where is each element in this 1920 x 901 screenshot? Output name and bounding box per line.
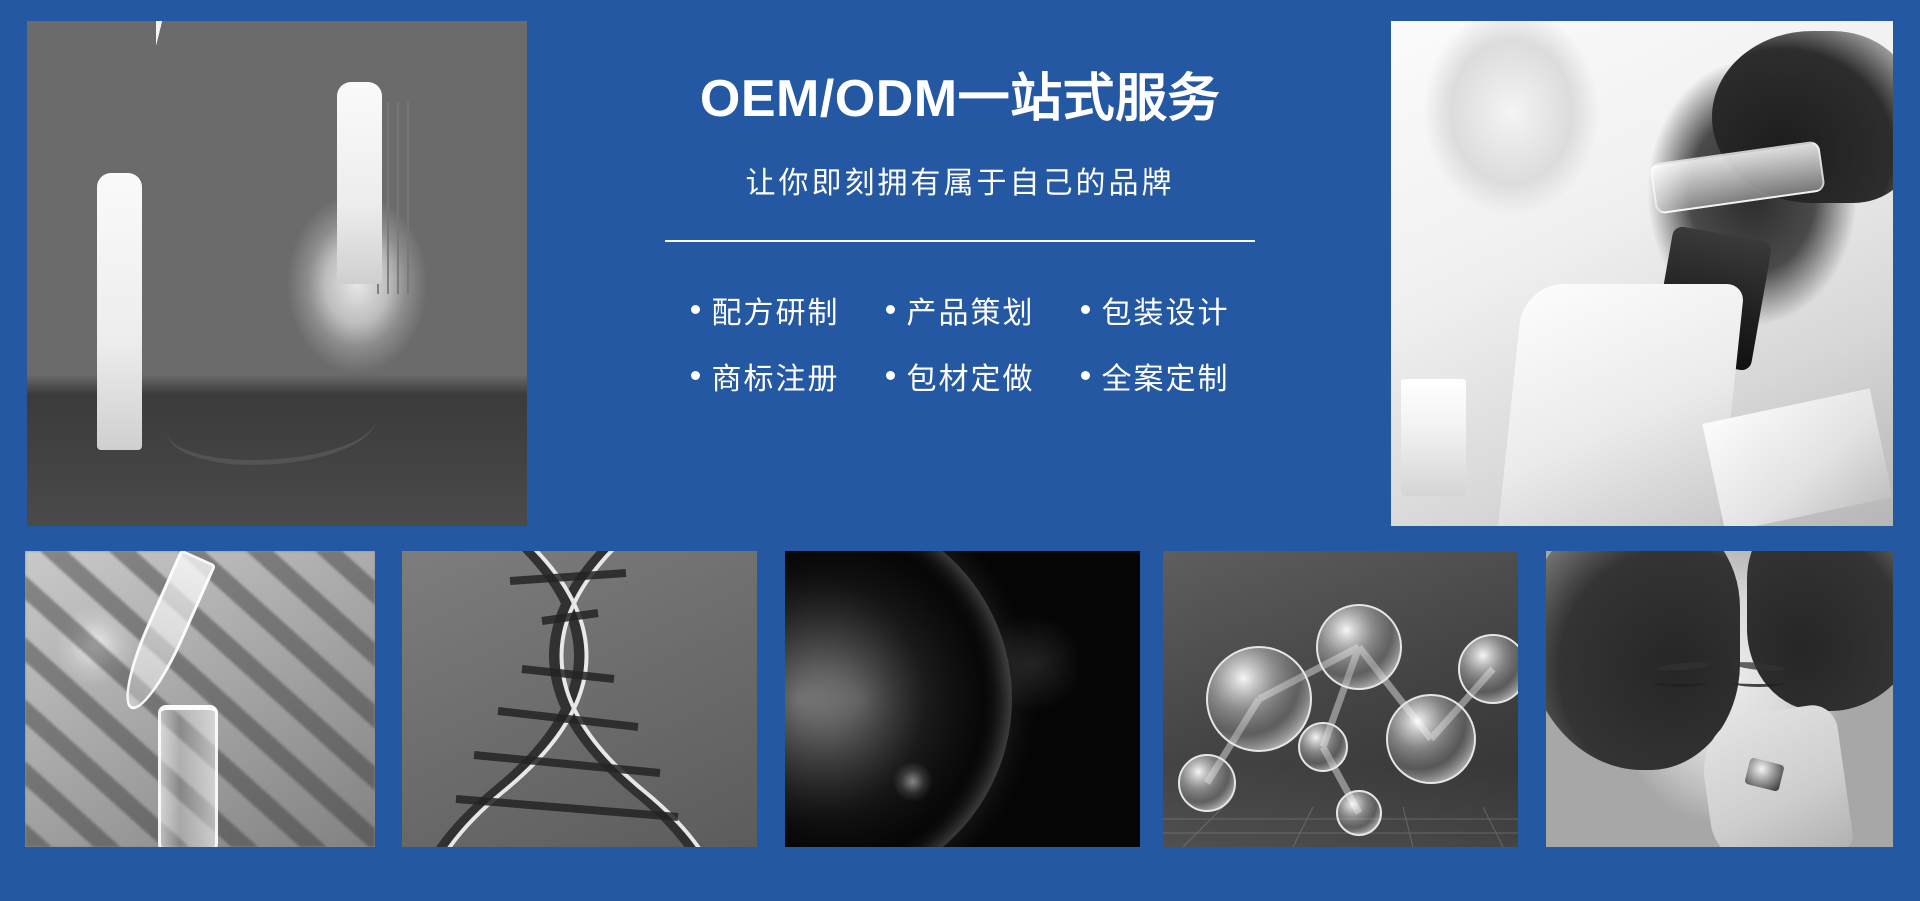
oem-odm-service-banner: OEM/ODM一站式服务 让你即刻拥有属于自己的品牌 配方研制 产品策划 包装设… [0, 0, 1920, 901]
safety-goggles-detail [1649, 141, 1825, 215]
service-item-label: 配方研制 [712, 288, 840, 332]
model-face-photo [1546, 551, 1893, 847]
service-item-full-case-custom[interactable]: 全案定制 [1081, 354, 1230, 398]
service-item-label: 商标注册 [712, 354, 840, 398]
microscope-photo-inner [1391, 21, 1893, 526]
planet-space-photo [785, 551, 1140, 847]
model-eyelash-left-detail [1654, 678, 1706, 687]
factory-worker-right [337, 82, 382, 284]
service-item-label: 包装设计 [1102, 288, 1230, 332]
bullet-dot-icon [691, 305, 700, 314]
factory-photo-inner [27, 21, 527, 526]
page-title: OEM/ODM一站式服务 [540, 70, 1380, 130]
banner-content: OEM/ODM一站式服务 让你即刻拥有属于自己的品牌 配方研制 产品策划 包装设… [540, 70, 1380, 398]
face-photo-inner [1546, 551, 1893, 847]
molecule-photo-inner [1163, 551, 1518, 847]
service-item-trademark-registration[interactable]: 商标注册 [691, 354, 840, 398]
service-item-label: 包材定做 [907, 354, 1035, 398]
dna-helix-graphic [402, 551, 757, 847]
pipette-test-tube-photo [25, 551, 375, 847]
service-item-package-design[interactable]: 包装设计 [1081, 288, 1230, 332]
molecule-bubbles-photo [1163, 551, 1518, 847]
dna-photo-inner [402, 551, 757, 847]
dna-helix-photo [402, 551, 757, 847]
bullet-dot-icon [886, 371, 895, 380]
service-feature-row: 配方研制 产品策划 包装设计 [691, 288, 1230, 332]
planet-photo-inner [785, 551, 1140, 847]
sample-jar-detail [1401, 375, 1466, 496]
test-tube-detail [158, 705, 218, 847]
title-divider [665, 240, 1255, 242]
model-hair-right-detail [1747, 551, 1893, 711]
page-subtitle: 让你即刻拥有属于自己的品牌 [540, 158, 1380, 202]
factory-production-line-photo [27, 21, 527, 526]
service-item-label: 产品策划 [907, 288, 1035, 332]
service-item-packaging-material[interactable]: 包材定做 [886, 354, 1035, 398]
planet-limb-detail [785, 551, 1012, 847]
bullet-dot-icon [1081, 371, 1090, 380]
microscope-body-detail [1499, 284, 1745, 526]
service-item-label: 全案定制 [1102, 354, 1230, 398]
factory-worker-left [97, 173, 142, 451]
molecule-graphic [1163, 551, 1518, 847]
bullet-dot-icon [1081, 305, 1090, 314]
factory-hose-detail [167, 385, 377, 466]
scientist-microscope-photo [1391, 21, 1893, 526]
service-feature-row: 商标注册 包材定做 全案定制 [691, 354, 1230, 398]
bullet-dot-icon [691, 371, 700, 380]
service-feature-list: 配方研制 产品策划 包装设计 商标注册 包材定做 [540, 288, 1380, 398]
service-item-product-planning[interactable]: 产品策划 [886, 288, 1035, 332]
service-item-formula-development[interactable]: 配方研制 [691, 288, 840, 332]
model-hair-left-detail [1546, 551, 1740, 770]
bullet-dot-icon [886, 305, 895, 314]
